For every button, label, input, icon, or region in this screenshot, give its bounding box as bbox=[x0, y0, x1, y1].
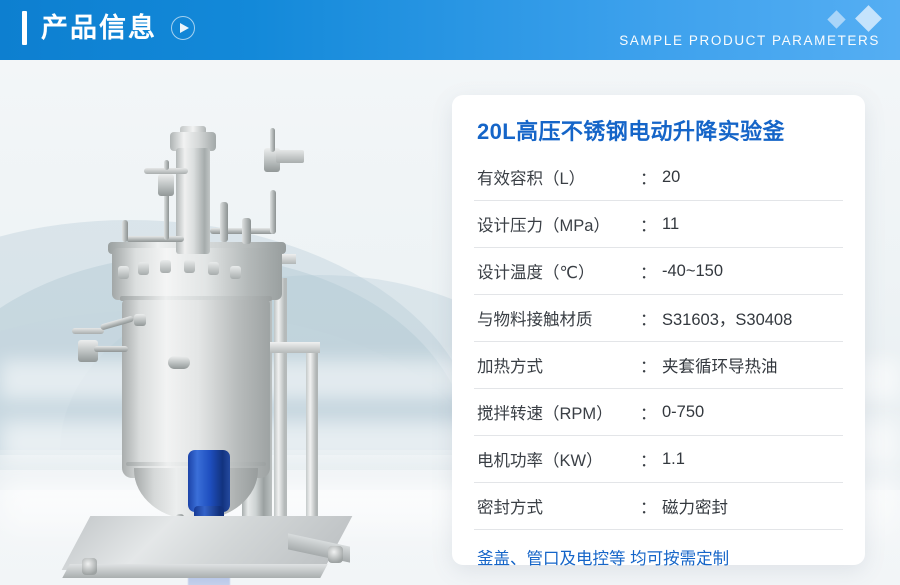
spec-label: 加热方式 bbox=[477, 353, 640, 377]
spec-colon: ： bbox=[640, 447, 662, 471]
product-title: 20L高压不锈钢电动升降实验釜 bbox=[474, 95, 843, 146]
drive-motor bbox=[188, 450, 230, 512]
page-title: 产品信息 bbox=[41, 11, 157, 45]
head-pipe bbox=[270, 190, 276, 234]
header-title-group: 产品信息 bbox=[22, 11, 195, 45]
spec-label: 设计温度（℃） bbox=[477, 259, 640, 283]
spec-row-sealing: 密封方式 ： 磁力密封 bbox=[474, 483, 843, 530]
page-header: 产品信息 SAMPLE PRODUCT PARAMETERS bbox=[0, 0, 900, 60]
caster-wheel bbox=[328, 546, 343, 563]
side-nozzle bbox=[168, 356, 190, 369]
valve-fitting bbox=[134, 314, 146, 326]
customization-note: 釜盖、管口及电控等 均可按需定制 bbox=[474, 530, 843, 569]
flange-bolt bbox=[184, 260, 195, 273]
spec-colon: ： bbox=[640, 165, 662, 189]
spec-table: 有效容积（L） ： 20 设计压力（MPa） ： 11 设计温度（℃） ： -4… bbox=[474, 154, 843, 530]
spec-value: S31603，S30408 bbox=[662, 306, 792, 330]
spec-row-material: 与物料接触材质 ： S31603，S30408 bbox=[474, 295, 843, 342]
spec-value: 磁力密封 bbox=[662, 494, 728, 518]
flange-bolt bbox=[160, 260, 171, 273]
spec-value: 1.1 bbox=[662, 450, 685, 469]
spec-colon: ： bbox=[640, 306, 662, 330]
play-arrow-circle-icon[interactable] bbox=[171, 16, 195, 40]
spec-label: 与物料接触材质 bbox=[477, 306, 640, 330]
valve-handle bbox=[276, 150, 304, 163]
spec-row-volume: 有效容积（L） ： 20 bbox=[474, 154, 843, 201]
spec-label: 密封方式 bbox=[477, 494, 640, 518]
spec-label: 电机功率（KW） bbox=[477, 447, 640, 471]
valve-stem bbox=[164, 160, 169, 170]
head-pipe bbox=[164, 190, 169, 240]
drain-pipe bbox=[94, 346, 128, 352]
spec-colon: ： bbox=[640, 259, 662, 283]
spec-row-motor-power: 电机功率（KW） ： 1.1 bbox=[474, 436, 843, 483]
flange-bolt bbox=[138, 262, 149, 275]
flange-bolt bbox=[208, 262, 219, 275]
diamond-large-icon bbox=[855, 5, 882, 32]
spec-label: 有效容积（L） bbox=[477, 165, 640, 189]
spec-label: 搅拌转速（RPM） bbox=[477, 400, 640, 424]
header-subtitle: SAMPLE PRODUCT PARAMETERS bbox=[619, 33, 880, 48]
spec-value: 20 bbox=[662, 168, 680, 187]
spec-colon: ： bbox=[640, 353, 662, 377]
valve-handwheel bbox=[72, 328, 104, 334]
spec-row-pressure: 设计压力（MPa） ： 11 bbox=[474, 201, 843, 248]
spec-row-temperature: 设计温度（℃） ： -40~150 bbox=[474, 248, 843, 295]
gauge-stem bbox=[242, 218, 251, 244]
diamond-decoration bbox=[824, 8, 880, 30]
spec-value: 0-750 bbox=[662, 403, 704, 422]
spec-value: -40~150 bbox=[662, 262, 723, 281]
product-spec-card: 20L高压不锈钢电动升降实验釜 有效容积（L） ： 20 设计压力（MPa） ：… bbox=[452, 95, 865, 565]
valve-stem bbox=[270, 128, 275, 152]
title-accent-rule bbox=[22, 11, 27, 45]
spec-colon: ： bbox=[640, 494, 662, 518]
spec-colon: ： bbox=[640, 212, 662, 236]
base-edge bbox=[62, 564, 327, 578]
flange-bolt bbox=[118, 266, 129, 279]
spec-value: 11 bbox=[662, 215, 679, 234]
spec-row-stirring-speed: 搅拌转速（RPM） ： 0-750 bbox=[474, 389, 843, 436]
flange-bolt bbox=[230, 266, 241, 279]
reactor-apparatus bbox=[60, 70, 420, 585]
spec-colon: ： bbox=[640, 400, 662, 424]
head-pipe bbox=[122, 220, 128, 242]
caster-wheel bbox=[82, 558, 97, 575]
gauge-stem bbox=[220, 202, 228, 242]
spec-label: 设计压力（MPa） bbox=[477, 212, 640, 236]
vessel-flange bbox=[112, 248, 282, 300]
needle-valve-body bbox=[158, 174, 174, 196]
head-pipe bbox=[126, 236, 184, 242]
spec-value: 夹套循环导热油 bbox=[662, 353, 778, 377]
diamond-small-icon bbox=[827, 10, 845, 28]
spec-row-heating: 加热方式 ： 夹套循环导热油 bbox=[474, 342, 843, 389]
product-parameters-page: 产品信息 SAMPLE PRODUCT PARAMETERS bbox=[0, 0, 900, 585]
